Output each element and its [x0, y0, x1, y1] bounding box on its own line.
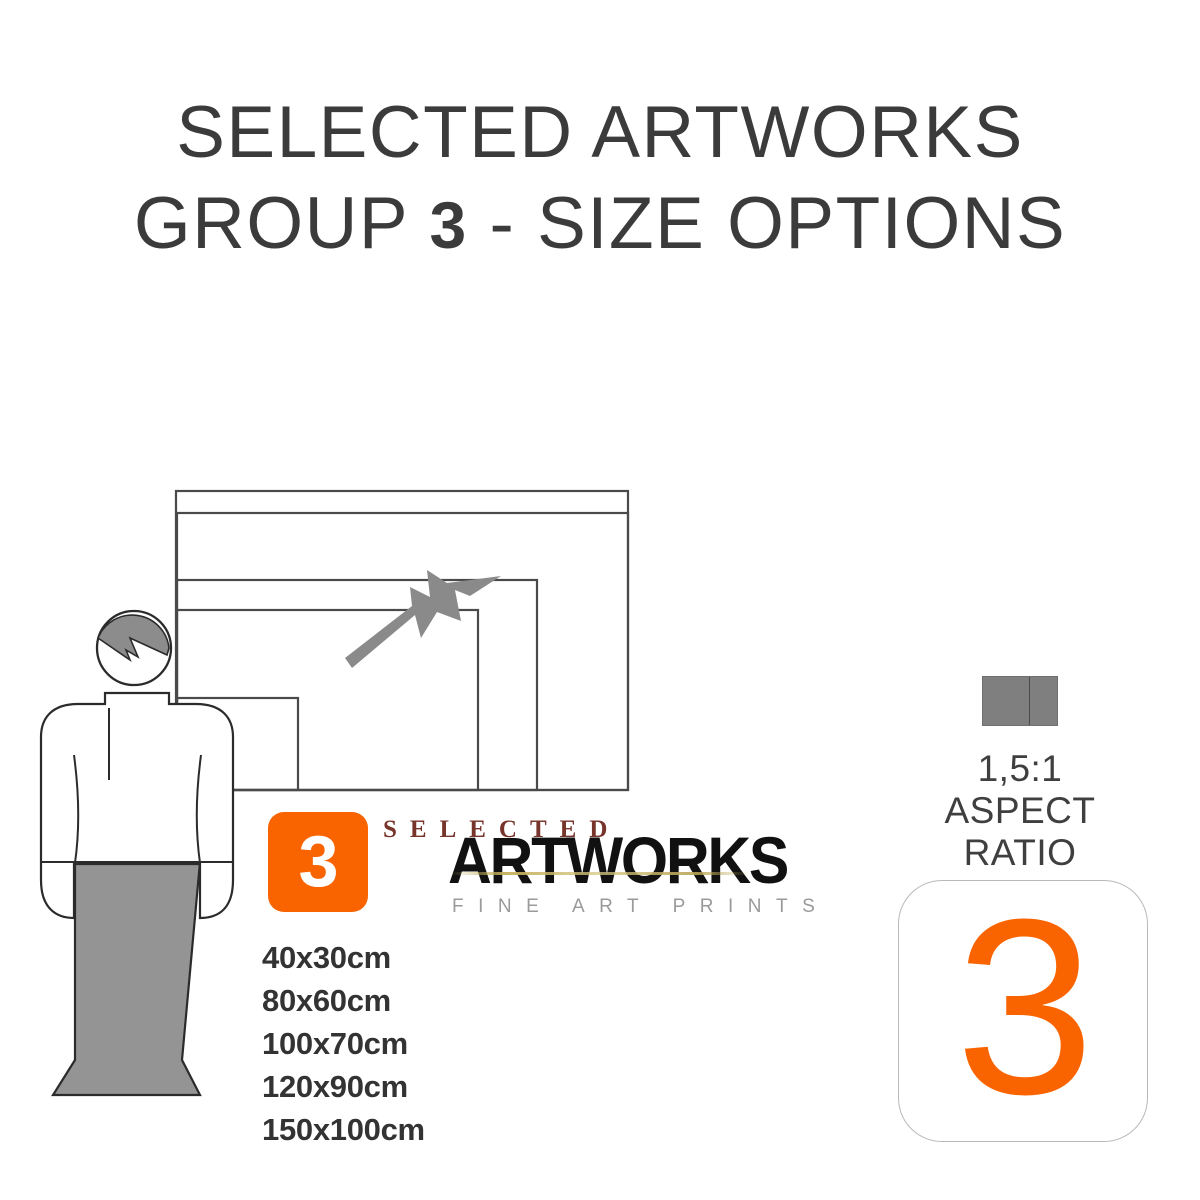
- aspect-ratio-divider-line: [1029, 677, 1030, 725]
- growth-arrow-icon: [345, 570, 501, 668]
- aspect-ratio-label-line-1: ASPECT: [900, 790, 1140, 832]
- aspect-ratio-block: 1,5:1 ASPECT RATIO: [900, 676, 1140, 874]
- list-item: 150x100cm: [262, 1108, 582, 1151]
- group-number-tile: 3: [898, 880, 1148, 1142]
- list-item: 40x30cm: [262, 936, 582, 979]
- brand-logo-lockup: 3 SELECTED ARTWORKS FINE ART PRINTS: [268, 812, 828, 922]
- wordmark-streak-decoration: [450, 872, 750, 875]
- list-item: 120x90cm: [262, 1065, 582, 1108]
- title-group-label: GROUP: [134, 183, 430, 264]
- human-scale-reference-figure: [30, 600, 260, 1160]
- wordmark-artworks-text: ARTWORKS: [448, 827, 787, 893]
- title-size-options-label: - SIZE OPTIONS: [468, 183, 1066, 264]
- group-number-tile-label: 3: [955, 882, 1090, 1132]
- aspect-ratio-rectangle-icon: [982, 676, 1058, 726]
- list-item: 80x60cm: [262, 979, 582, 1022]
- group-number-badge: 3: [268, 812, 368, 912]
- size-options-list: 40x30cm 80x60cm 100x70cm 120x90cm 150x10…: [262, 936, 582, 1151]
- artworks-wordmark: SELECTED ARTWORKS FINE ART PRINTS: [380, 810, 828, 920]
- aspect-ratio-value: 1,5:1: [900, 748, 1140, 790]
- list-item: 100x70cm: [262, 1022, 582, 1065]
- wordmark-tagline-text: FINE ART PRINTS: [452, 896, 829, 918]
- title-group-number: 3: [429, 188, 467, 262]
- title-line-2: GROUP 3 - SIZE OPTIONS: [0, 187, 1200, 260]
- group-number-badge-label: 3: [298, 826, 337, 898]
- title-line-1: SELECTED ARTWORKS: [0, 96, 1200, 169]
- page-title: SELECTED ARTWORKS GROUP 3 - SIZE OPTIONS: [0, 96, 1200, 260]
